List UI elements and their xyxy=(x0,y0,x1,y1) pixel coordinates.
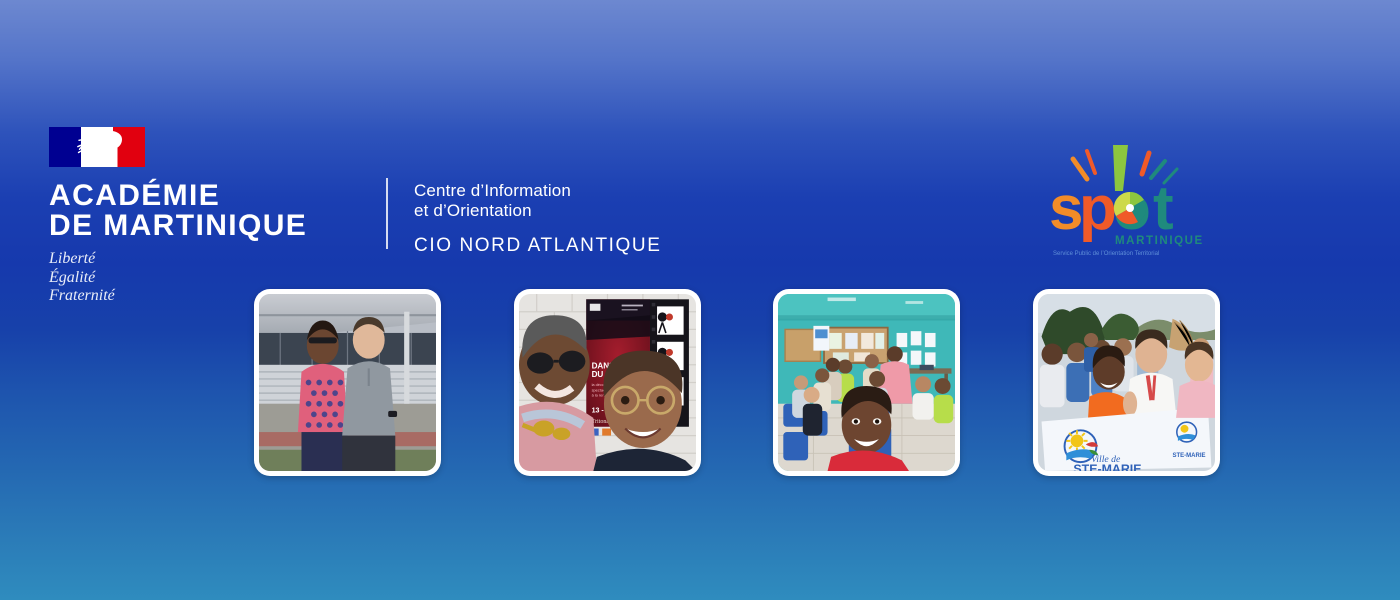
photo-1 xyxy=(259,294,436,471)
svg-text:Tritona: Tritona xyxy=(591,419,609,425)
cio-subtitle: Centre d’Information et d’Orientation xyxy=(414,181,662,221)
cio-subtitle-line-1: Centre d’Information xyxy=(414,181,662,201)
devise-liberte: Liberté xyxy=(49,250,359,269)
photo-1-image xyxy=(259,294,436,471)
photo-4: Ville de STE-MARIE STE-MARIE xyxy=(1038,294,1215,471)
photo-strip: DANS LES COULISSES DU DÉCOR la découvert… xyxy=(254,289,1220,476)
spot-region-label: MARTINIQUE xyxy=(1115,235,1203,247)
photo-card-4[interactable]: Ville de STE-MARIE STE-MARIE xyxy=(1033,289,1220,476)
svg-text:t: t xyxy=(1153,174,1174,243)
marianne-republique-francaise-icon xyxy=(49,127,145,167)
banner-city-name: STE-MARIE xyxy=(1073,462,1141,471)
spot-martinique-logo: s p o t MARTINIQUE Service Public de l’O… xyxy=(1043,143,1203,258)
banner-secondary-label: STE-MARIE xyxy=(1172,453,1205,459)
photo-3 xyxy=(778,294,955,471)
spot-logo-icon: s p o t MARTINIQUE Service Public de l’O… xyxy=(1043,143,1203,258)
cio-subtitle-line-2: et d’Orientation xyxy=(414,201,662,221)
photo-3-image xyxy=(778,294,955,471)
photo-card-2[interactable]: DANS LES COULISSES DU DÉCOR la découvert… xyxy=(514,289,701,476)
cio-title: CIO NORD ATLANTIQUE xyxy=(414,235,662,257)
academie-name-line-1: ACADÉMIE xyxy=(49,179,220,212)
academie-de-martinique-logo-block: ACADÉMIE DE MARTINIQUE Liberté Égalité F… xyxy=(49,127,359,306)
cio-identity-block: Centre d’Information et d’Orientation CI… xyxy=(414,181,662,257)
devise-egalite: Égalité xyxy=(49,269,359,288)
photo-card-1[interactable] xyxy=(254,289,441,476)
svg-text:p: p xyxy=(1079,174,1117,243)
vertical-divider xyxy=(386,178,388,249)
photo-2: DANS LES COULISSES DU DÉCOR la découvert… xyxy=(519,294,696,471)
photo-4-image: Ville de STE-MARIE STE-MARIE xyxy=(1038,294,1215,471)
photo-card-3[interactable] xyxy=(773,289,960,476)
spot-tagline: Service Public de l’Orientation Territor… xyxy=(1053,251,1159,257)
academie-name-line-2: DE MARTINIQUE xyxy=(49,211,359,241)
academie-name: ACADÉMIE DE MARTINIQUE xyxy=(49,181,359,241)
photo-2-image: DANS LES COULISSES DU DÉCOR la découvert… xyxy=(519,294,696,471)
banner-root: ACADÉMIE DE MARTINIQUE Liberté Égalité F… xyxy=(0,0,1400,600)
